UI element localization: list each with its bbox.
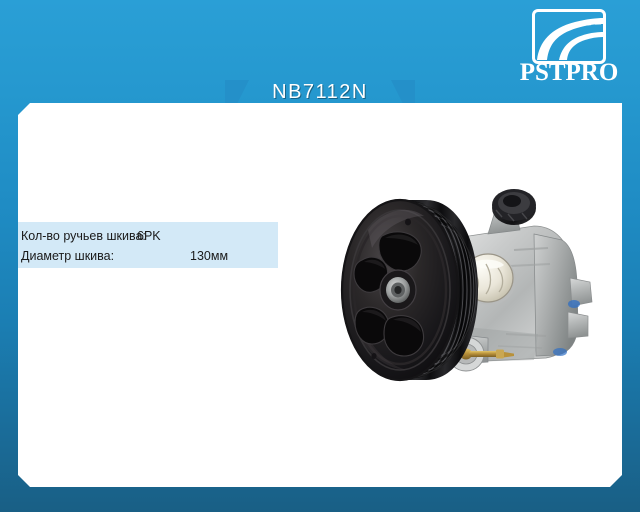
spec-row: Диаметр шкива: 130мм xyxy=(21,246,278,266)
spec-value: 130мм xyxy=(190,246,228,266)
product-image xyxy=(338,186,618,394)
specifications-box: Кол-во ручьев шкива: 6PK Диаметр шкива: … xyxy=(18,222,278,268)
brand-name: PSTPRO xyxy=(516,59,622,86)
spec-value: 6PK xyxy=(137,226,161,246)
road-highway-icon xyxy=(532,9,606,64)
panel-corner-fill xyxy=(608,103,622,117)
brand-logo: PSTPRO xyxy=(516,9,622,86)
spec-row: Кол-во ручьев шкива: 6PK xyxy=(21,226,278,246)
product-card-page: PSTPRO NB7112N Кол-во ручьев шкива: 6PK … xyxy=(0,0,640,512)
spec-label: Кол-во ручьев шкива: xyxy=(21,226,133,246)
page-title: NB7112N xyxy=(225,79,415,105)
spec-label: Диаметр шкива: xyxy=(21,246,133,266)
